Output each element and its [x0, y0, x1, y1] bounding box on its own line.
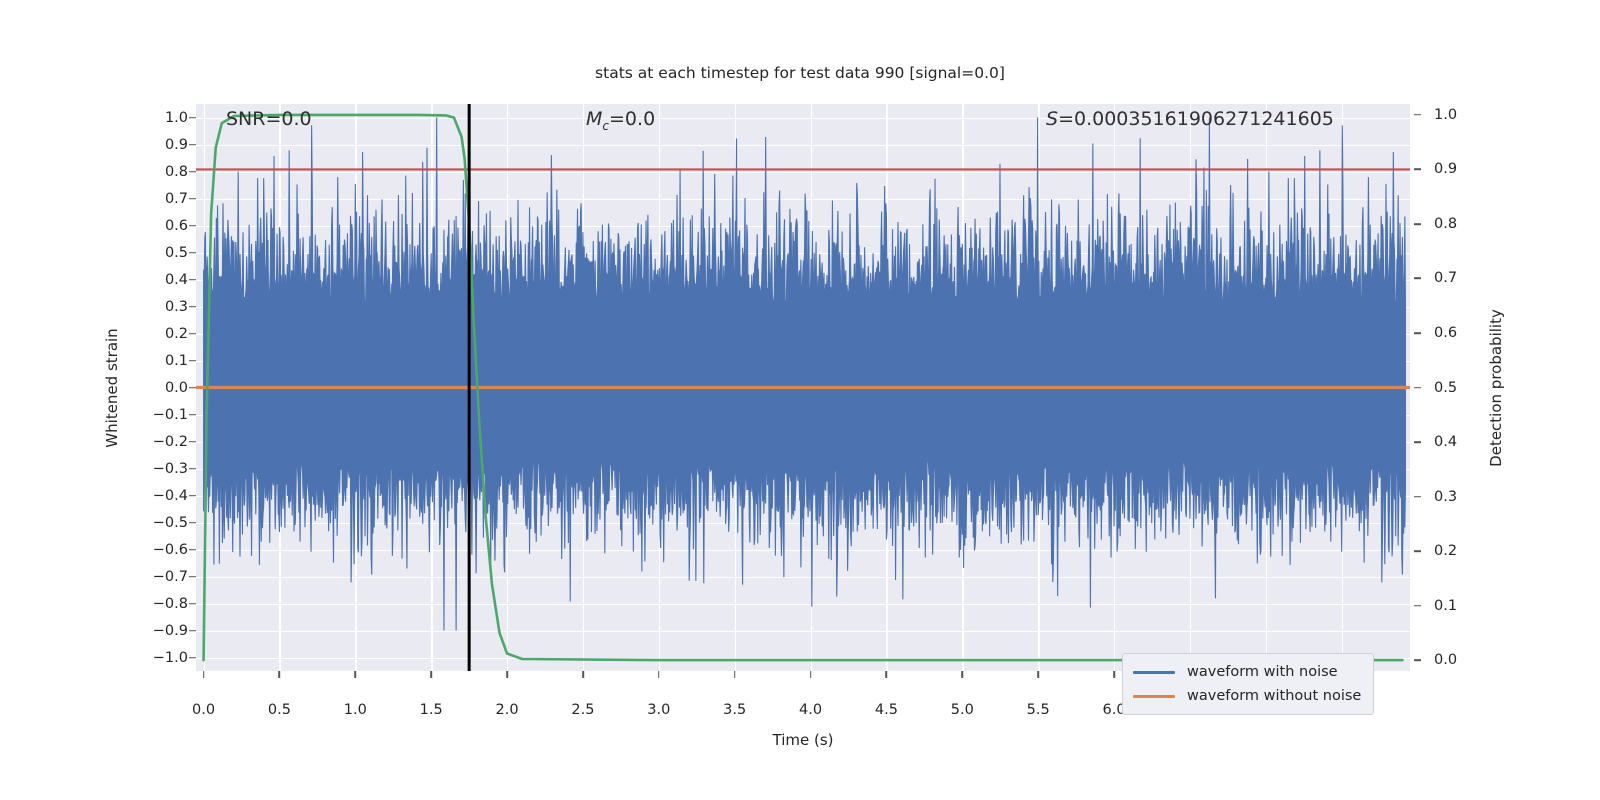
y-tick-mark-left — [189, 603, 196, 605]
y-tick-label-right: 0.0 — [1434, 652, 1504, 668]
y-tick-mark-left — [189, 252, 196, 254]
x-tick-mark — [506, 671, 508, 678]
y-tick-mark-left — [189, 576, 196, 578]
s-value: =0.00035161906271241605 — [1058, 108, 1334, 130]
y-tick-label-left: 0.1 — [118, 353, 188, 369]
y-tick-label-left: 0.0 — [118, 380, 188, 396]
x-tick-label: 5.0 — [922, 702, 1002, 718]
y-tick-label-left: 0.6 — [118, 218, 188, 234]
y-tick-mark-right — [1414, 332, 1421, 334]
y-tick-mark-left — [189, 333, 196, 335]
y-tick-label-left: 1.0 — [118, 110, 188, 126]
y-tick-label-right: 1.0 — [1434, 107, 1504, 123]
y-tick-label-right: 0.1 — [1434, 598, 1504, 614]
y-tick-mark-right — [1414, 605, 1421, 607]
y-tick-label-right: 0.9 — [1434, 161, 1504, 177]
y-tick-label-right: 0.2 — [1434, 543, 1504, 559]
y-tick-label-left: 0.9 — [118, 137, 188, 153]
x-tick-mark — [1113, 671, 1115, 678]
annotation-snr: SNR=0.0 — [226, 108, 312, 130]
y-tick-mark-right — [1414, 278, 1421, 280]
x-axis-label: Time (s) — [773, 731, 834, 749]
y-tick-mark-left — [189, 387, 196, 389]
y-tick-mark-left — [189, 468, 196, 470]
y-tick-label-left: −0.5 — [118, 515, 188, 531]
legend-swatch-icon — [1133, 695, 1175, 698]
chart-svg — [196, 104, 1410, 671]
noise-envelope — [204, 118, 1406, 631]
x-tick-mark — [810, 671, 812, 678]
y-tick-label-right: 0.7 — [1434, 270, 1504, 286]
legend[interactable]: waveform with noisewaveform without nois… — [1122, 653, 1374, 715]
x-tick-label: 0.5 — [239, 702, 319, 718]
x-tick-mark — [582, 671, 584, 678]
x-tick-mark — [1037, 671, 1039, 678]
y-tick-label-left: −0.8 — [118, 596, 188, 612]
x-tick-label: 2.0 — [467, 702, 547, 718]
y-tick-label-left: 0.7 — [118, 191, 188, 207]
legend-swatch-icon — [1133, 671, 1175, 674]
y-tick-mark-left — [189, 171, 196, 173]
y-tick-mark-left — [189, 522, 196, 524]
y-tick-mark-left — [189, 657, 196, 659]
y-tick-mark-left — [189, 549, 196, 551]
y-tick-label-left: −0.2 — [118, 434, 188, 450]
y-axis-label-left: Whitened strain — [103, 328, 121, 447]
y-tick-label-left: −1.0 — [118, 650, 188, 666]
y-tick-mark-left — [189, 630, 196, 632]
y-tick-mark-right — [1414, 496, 1421, 498]
x-tick-mark — [355, 671, 357, 678]
series-waveform-with-noise — [204, 118, 1406, 631]
y-tick-mark-left — [189, 495, 196, 497]
annotation-chirp-mass: Mc=0.0 — [586, 108, 655, 133]
y-tick-label-left: −0.3 — [118, 461, 188, 477]
y-tick-mark-right — [1414, 223, 1421, 225]
x-tick-mark — [279, 671, 281, 678]
legend-item[interactable]: waveform with noise — [1133, 660, 1361, 684]
x-tick-label: 2.5 — [543, 702, 623, 718]
annotation-statistic: S=0.00035161906271241605 — [1046, 108, 1334, 130]
x-tick-label: 4.0 — [771, 702, 851, 718]
y-tick-mark-left — [189, 360, 196, 362]
data-layer — [196, 104, 1410, 671]
y-tick-mark-right — [1414, 387, 1421, 389]
y-tick-label-left: 0.3 — [118, 299, 188, 315]
mc-value: =0.0 — [609, 108, 655, 130]
y-tick-mark-right — [1414, 550, 1421, 552]
y-tick-label-left: 0.8 — [118, 164, 188, 180]
figure-canvas: stats at each timestep for test data 990… — [0, 0, 1600, 800]
y-tick-mark-left — [189, 279, 196, 281]
x-tick-label: 3.5 — [695, 702, 775, 718]
y-tick-mark-right — [1414, 441, 1421, 443]
y-tick-mark-left — [189, 198, 196, 200]
x-tick-mark — [658, 671, 660, 678]
mc-symbol: M — [586, 108, 602, 130]
x-tick-mark — [734, 671, 736, 678]
legend-label: waveform with noise — [1187, 664, 1338, 680]
legend-label: waveform without noise — [1187, 688, 1361, 704]
plot-area[interactable]: SNR=0.0 Mc=0.0 S=0.00035161906271241605 — [196, 104, 1410, 671]
x-tick-mark — [886, 671, 888, 678]
y-tick-label-right: 0.3 — [1434, 489, 1504, 505]
y-tick-mark-right — [1414, 659, 1421, 661]
y-tick-label-left: 0.5 — [118, 245, 188, 261]
y-axis-label-right: Detection probability — [1487, 309, 1505, 467]
y-tick-mark-left — [189, 117, 196, 119]
y-tick-mark-left — [189, 306, 196, 308]
y-tick-mark-left — [189, 414, 196, 416]
y-tick-mark-left — [189, 441, 196, 443]
y-tick-label-left: 0.2 — [118, 326, 188, 342]
y-tick-mark-right — [1414, 169, 1421, 171]
x-tick-label: 1.5 — [391, 702, 471, 718]
x-tick-mark — [962, 671, 964, 678]
x-tick-label: 1.0 — [315, 702, 395, 718]
y-tick-mark-left — [189, 225, 196, 227]
legend-item[interactable]: waveform without noise — [1133, 684, 1361, 708]
x-tick-label: 5.5 — [998, 702, 1078, 718]
y-tick-label-left: −0.6 — [118, 542, 188, 558]
x-tick-label: 0.0 — [164, 702, 244, 718]
y-tick-label-left: −0.1 — [118, 407, 188, 423]
y-tick-label-left: −0.7 — [118, 569, 188, 585]
y-tick-mark-right — [1414, 114, 1421, 116]
s-symbol: S — [1046, 108, 1058, 130]
y-tick-label-left: −0.4 — [118, 488, 188, 504]
page-title: stats at each timestep for test data 990… — [0, 64, 1600, 82]
x-tick-label: 3.0 — [619, 702, 699, 718]
x-tick-mark — [203, 671, 205, 678]
y-tick-mark-left — [189, 144, 196, 146]
y-tick-label-left: 0.4 — [118, 272, 188, 288]
x-tick-mark — [430, 671, 432, 678]
y-tick-label-right: 0.8 — [1434, 216, 1504, 232]
x-tick-label: 4.5 — [846, 702, 926, 718]
y-tick-label-left: −0.9 — [118, 623, 188, 639]
